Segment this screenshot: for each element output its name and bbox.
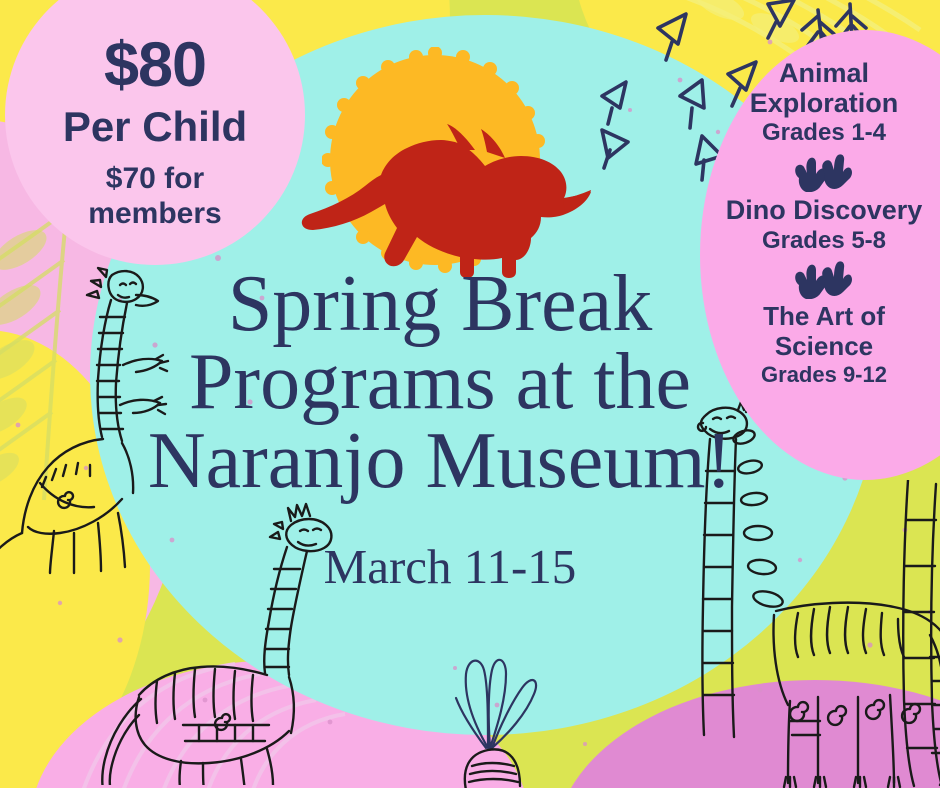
program-item-dino-discovery: Dino Discovery Grades 5-8 (704, 195, 940, 254)
plant-sprout-doodle-icon (430, 640, 550, 788)
leaf-arrow-doodle-icon (680, 80, 704, 128)
leaf-arrow-doodle-icon (768, 0, 794, 38)
title-line-2: Programs at the (120, 343, 760, 421)
program-item-animal-exploration: Animal Exploration Grades 1-4 (704, 58, 940, 147)
dinosaur-footprint-icon (793, 259, 855, 299)
main-title: Spring Break Programs at the Naranjo Mus… (120, 265, 760, 500)
title-line-3: Naranjo Museum! (120, 422, 760, 500)
price-amount: $80 (104, 33, 206, 97)
dinosaur-line-art-right-edge (898, 480, 940, 788)
price-per-child-label: Per Child (63, 106, 247, 149)
dinosaur-footprint-icon (793, 152, 855, 192)
program-grades: Grades 1-4 (704, 120, 940, 147)
title-line-1: Spring Break (120, 265, 760, 343)
dinosaur-line-art-bottom-left (95, 485, 435, 785)
leaf-arrow-doodle-icon (602, 82, 626, 124)
program-name-line1: Dino Discovery (704, 195, 940, 225)
leaf-arrow-doodle-icon (602, 130, 628, 168)
poster-canvas: $80 Per Child $70 for members Animal Exp… (0, 0, 940, 788)
program-name-line2: Exploration (704, 88, 940, 118)
footprint-divider-1 (704, 151, 940, 193)
price-circle-content: $80 Per Child $70 for members (5, 0, 305, 265)
program-name-line1: Animal (704, 58, 940, 88)
price-member-note: $70 for members (50, 161, 260, 232)
leaf-arrow-doodle-icon (658, 14, 686, 60)
event-date: March 11-15 (260, 538, 640, 595)
program-grades: Grades 5-8 (704, 228, 940, 255)
